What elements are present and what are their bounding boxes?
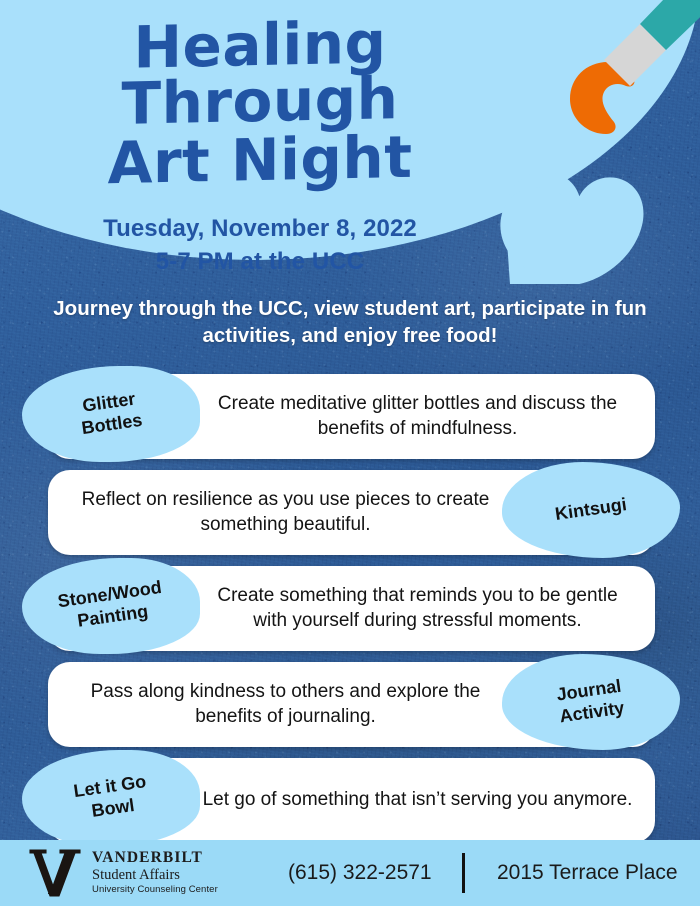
- activity-row: Let it Go Bowl Let go of something that …: [0, 750, 700, 846]
- activity-description: Pass along kindness to others and explor…: [66, 680, 505, 729]
- activity-label-blob: Let it Go Bowl: [22, 750, 200, 846]
- activity-label: Kintsugi: [554, 494, 628, 526]
- event-time-location: 5-7 PM at the UCC: [0, 248, 520, 276]
- title-line-2: Art Night: [0, 128, 520, 195]
- logo-line-counseling-center: University Counseling Center: [92, 884, 218, 896]
- footer-divider: [462, 853, 465, 893]
- activity-row: Stone/Wood Painting Create something tha…: [0, 558, 700, 654]
- event-date: Tuesday, November 8, 2022: [0, 215, 520, 243]
- footer-bar: VANDERBILT Student Affairs University Co…: [0, 840, 700, 906]
- activity-label: Journal Activity: [556, 676, 627, 729]
- activity-row: Journal Activity Pass along kindness to …: [0, 654, 700, 750]
- activity-label-blob: Glitter Bottles: [22, 366, 200, 462]
- heart-icon: [500, 172, 643, 284]
- logo-line-vanderbilt: VANDERBILT: [92, 850, 218, 867]
- activity-row: Kintsugi Reflect on resilience as you us…: [0, 462, 700, 558]
- vanderbilt-logo: VANDERBILT Student Affairs University Co…: [28, 847, 218, 899]
- activity-label: Let it Go Bowl: [72, 771, 150, 825]
- activity-label: Stone/Wood Painting: [56, 577, 166, 635]
- flyer-canvas: Healing Through Art Night Tuesday, Novem…: [0, 0, 700, 906]
- activity-description: Create something that reminds you to be …: [198, 584, 637, 633]
- activity-label-blob: Kintsugi: [502, 462, 680, 558]
- activity-label-blob: Journal Activity: [502, 654, 680, 750]
- activity-row: Glitter Bottles Create meditative glitte…: [0, 366, 700, 462]
- activity-description: Reflect on resilience as you use pieces …: [66, 488, 505, 537]
- contact-address: 2015 Terrace Place: [497, 861, 678, 885]
- title-line-1: Healing Through: [0, 13, 520, 135]
- vanderbilt-v-logo-icon: [28, 847, 82, 899]
- activity-label-blob: Stone/Wood Painting: [22, 558, 200, 654]
- intro-text: Journey through the UCC, view student ar…: [50, 296, 650, 349]
- activity-label: Glitter Bottles: [78, 388, 145, 440]
- header-text-group: Healing Through Art Night Tuesday, Novem…: [0, 0, 520, 276]
- activity-description: Let go of something that isn’t serving y…: [198, 788, 637, 812]
- activity-description: Create meditative glitter bottles and di…: [198, 392, 637, 441]
- logo-line-student-affairs: Student Affairs: [92, 867, 218, 884]
- contact-phone[interactable]: (615) 322-2571: [288, 861, 432, 885]
- activity-list: Glitter Bottles Create meditative glitte…: [0, 366, 700, 846]
- vanderbilt-logo-text: VANDERBILT Student Affairs University Co…: [92, 850, 218, 896]
- page-title: Healing Through Art Night: [0, 13, 520, 195]
